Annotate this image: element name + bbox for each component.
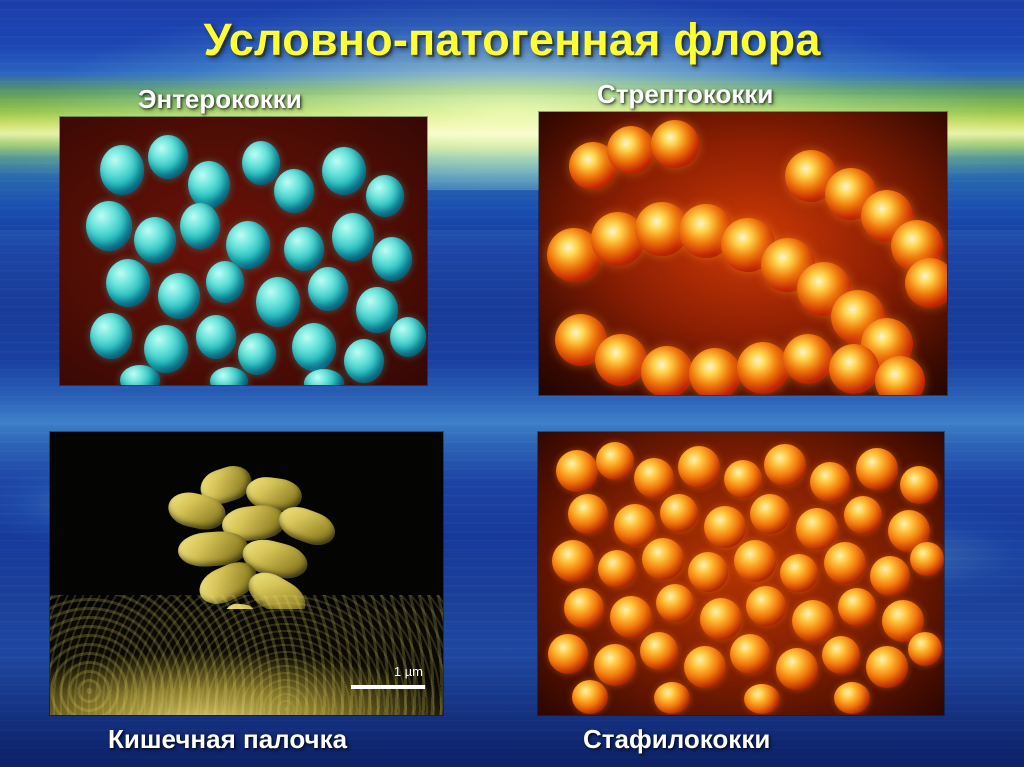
slide: Условно-патогенная флора Энтерококки Стр… [0,0,1024,767]
coccus [572,680,608,714]
coccus [824,542,866,584]
coccus [180,203,220,249]
coccus [905,258,947,308]
coccus [568,494,608,534]
coccus [844,496,882,534]
coccus [856,448,898,490]
coccus [750,494,790,534]
coccus [734,540,776,582]
coccus [684,646,726,688]
coccus [196,315,236,359]
coccus [308,267,348,311]
image-staphylococci [538,432,944,715]
coccus [210,367,248,385]
enterococci-micrograph [60,117,427,385]
coccus [737,342,789,394]
coccus [614,504,656,546]
coccus [594,644,636,686]
scale-bar [351,685,425,689]
coccus [292,323,336,371]
scale-bar-label: 1 µm [394,664,423,679]
coccus [724,460,762,498]
coccus [595,334,647,386]
coccus [660,494,698,532]
coccus [792,600,834,642]
caption-enterococci: Энтерококки [138,84,302,115]
coccus [866,646,908,688]
coccus [640,632,678,670]
coccus [610,596,652,638]
coccus [106,259,150,307]
coccus [556,450,598,492]
caption-streptococci: Стрептококки [597,79,773,110]
coccus [829,344,879,394]
image-ecoli: 1 µm [50,432,443,715]
coccus [744,684,780,714]
coccus [598,550,636,588]
coccus [875,356,925,395]
coccus [641,346,693,395]
coccus [764,444,806,486]
coccus [730,634,770,674]
coccus [900,466,938,504]
coccus [390,317,426,357]
coccus [344,339,384,383]
coccus [90,313,132,359]
coccus [607,126,655,174]
coccus [746,586,786,626]
coccus [332,213,374,261]
coccus [634,458,674,498]
coccus [242,141,280,185]
coccus [704,506,746,548]
coccus [834,682,870,714]
substrate-texture [50,595,443,715]
coccus [780,554,818,592]
coccus [100,145,144,195]
coccus [783,334,833,384]
coccus [838,588,876,626]
coccus [238,333,276,375]
coccus [776,648,818,690]
coccus [206,261,244,303]
coccus [654,682,690,714]
coccus [322,147,366,195]
coccus [651,120,699,168]
image-enterococci [60,117,427,385]
coccus [678,446,720,488]
coccus [796,508,838,550]
coccus [596,442,634,480]
ecoli-micrograph: 1 µm [50,432,443,715]
image-streptococci [539,112,947,395]
staphylococci-micrograph [538,432,944,715]
coccus [134,217,176,263]
coccus [656,584,694,622]
caption-staphylococci: Стафилококки [583,724,770,755]
coccus [366,175,404,217]
coccus [910,542,944,576]
coccus [642,538,684,580]
coccus [908,632,942,666]
coccus [86,201,132,251]
coccus [188,161,230,208]
coccus [144,325,188,373]
coccus [256,277,300,327]
coccus [689,348,741,395]
coccus [372,237,412,281]
caption-ecoli: Кишечная палочка [108,724,347,755]
coccus [284,227,324,271]
coccus [700,598,742,640]
coccus [822,636,860,674]
coccus [148,135,188,179]
coccus [688,552,728,592]
coccus [810,462,850,502]
coccus [304,369,344,385]
slide-title: Условно-патогенная флора [0,14,1024,66]
coccus [564,588,604,628]
coccus [548,634,588,674]
coccus [552,540,594,582]
coccus [870,556,910,596]
streptococci-micrograph [539,112,947,395]
coccus [158,273,200,319]
coccus [274,169,314,213]
